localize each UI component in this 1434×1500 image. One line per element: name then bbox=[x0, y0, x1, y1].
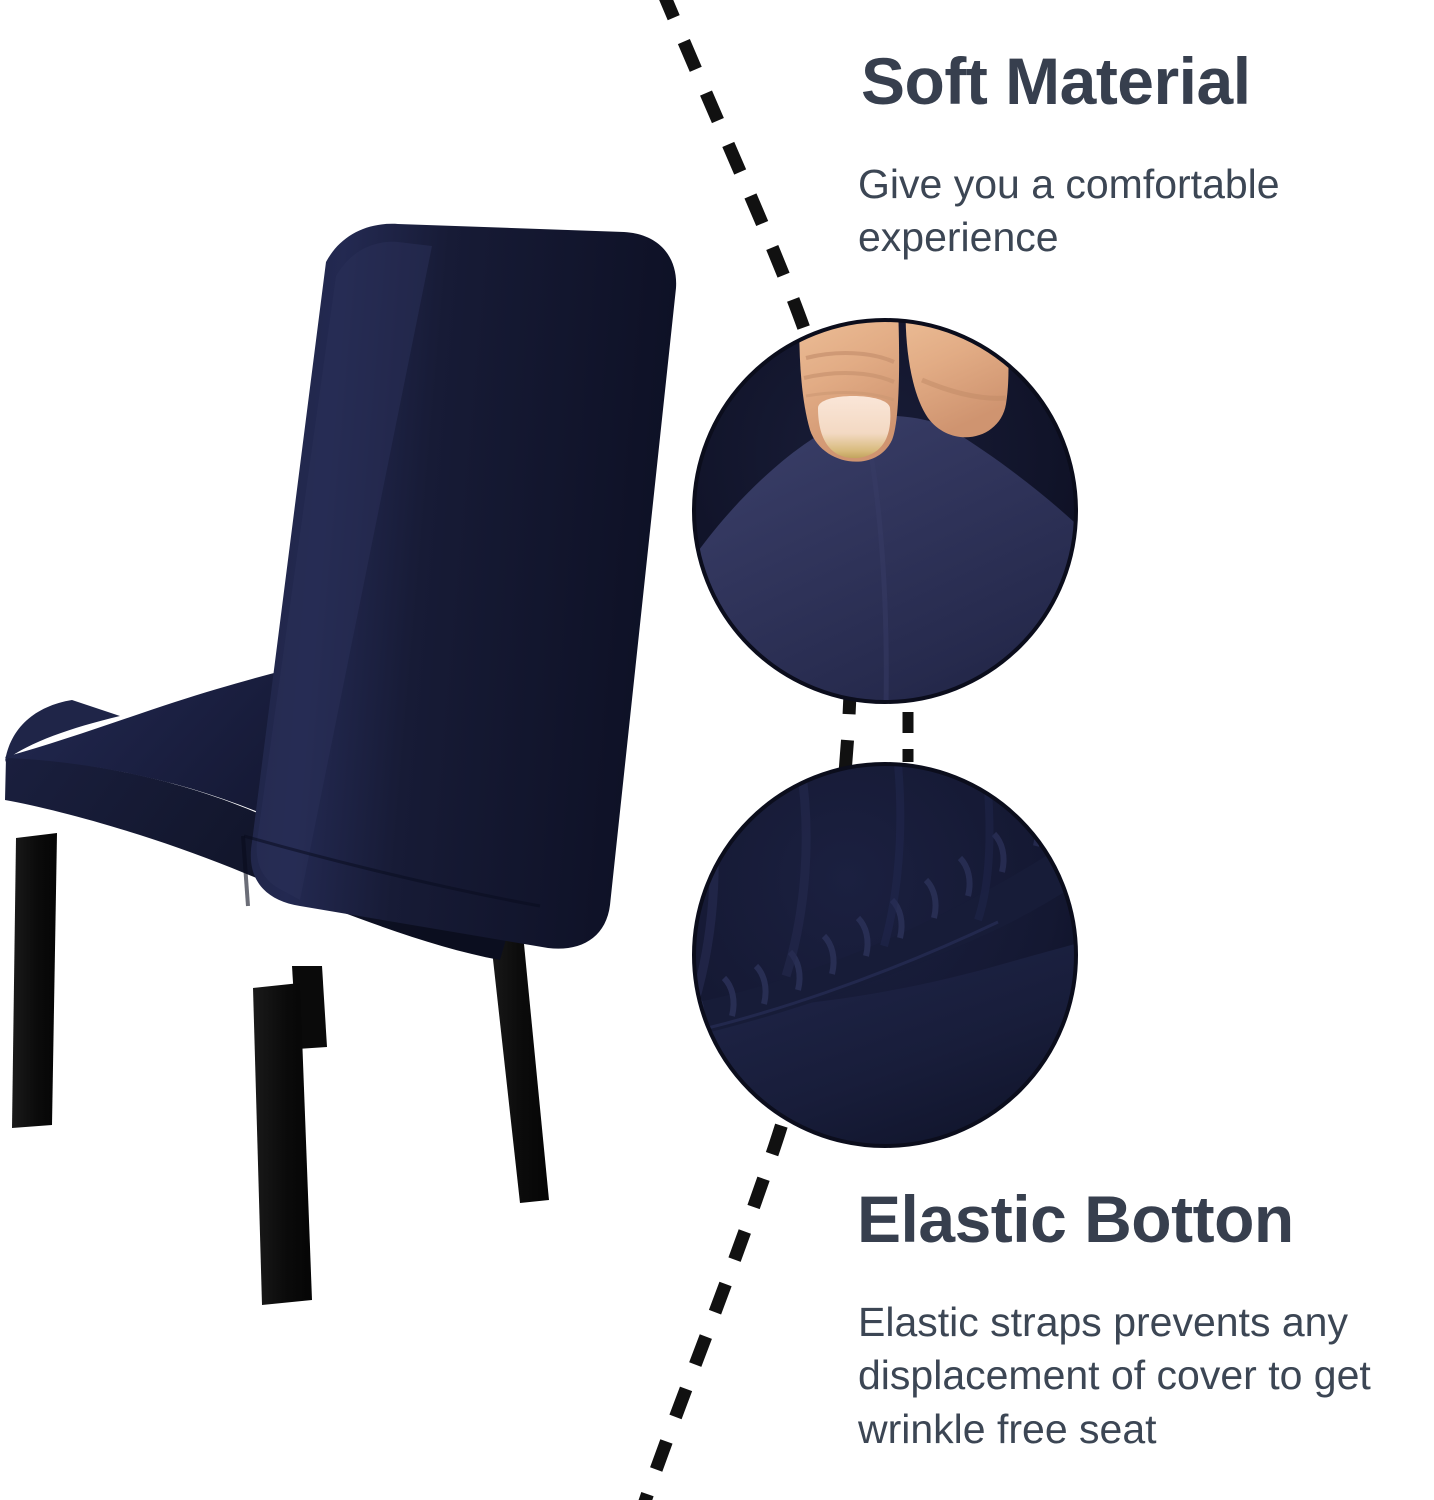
feature-headline-elastic-botton: Elastic Botton bbox=[857, 1186, 1294, 1252]
feature-description-soft-material: Give you a comfortable experience bbox=[858, 158, 1388, 265]
callout-elastic-botton bbox=[660, 762, 1096, 1160]
callout-soft-material bbox=[664, 282, 1130, 710]
chair-leg-front-left bbox=[12, 833, 57, 1128]
infographic-canvas: Soft Material Give you a comfortable exp… bbox=[0, 0, 1434, 1500]
chair-illustration bbox=[5, 224, 676, 1305]
feature-description-elastic-botton: Elastic straps prevents any displacement… bbox=[858, 1296, 1433, 1456]
feature-headline-soft-material: Soft Material bbox=[861, 48, 1251, 114]
dashed-guide-curve bbox=[642, 0, 851, 1500]
